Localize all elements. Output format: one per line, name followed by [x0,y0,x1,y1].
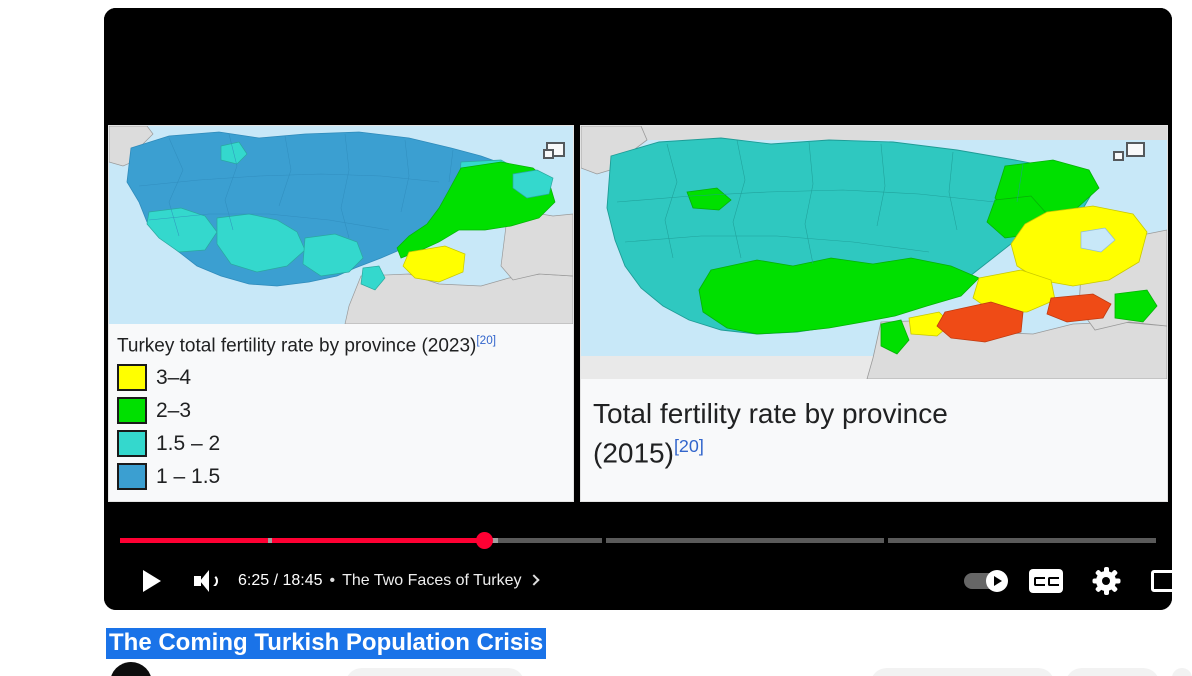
progress-played [120,538,268,543]
enlarge-icon-outer [1126,142,1145,157]
legend-swatch-3-4 [117,364,147,391]
page-root: Turkey total fertility rate by province … [0,0,1192,676]
legend-item: 1 – 1.5 [117,460,573,493]
left-caption-text: Turkey total fertility rate by province … [117,335,476,356]
miniplayer-icon [1151,570,1172,592]
autoplay-icon [964,570,1008,592]
legend-label: 1 – 1.5 [156,465,220,489]
right-figure-panel: Total fertility rate by province (2015)[… [580,125,1168,502]
volume-icon [193,570,219,592]
right-figure-caption: Total fertility rate by province (2015)[… [581,379,1167,473]
play-icon [143,570,161,592]
slide-content: Turkey total fertility rate by province … [104,119,1172,502]
legend-item: 2–3 [117,394,573,427]
progress-scrubber[interactable] [476,532,493,549]
autoplay-toggle[interactable] [960,557,1012,605]
legend-swatch-1-1-5 [117,463,147,490]
chevron-right-icon[interactable] [529,574,540,585]
legend-label: 3–4 [156,366,191,390]
chapter-title[interactable]: The Two Faces of Turkey [342,572,521,590]
progress-played [272,538,484,543]
progress-bar[interactable] [120,538,1156,543]
map-turkey-2023 [109,126,573,324]
letterbox-top [104,8,1172,119]
subtitles-button[interactable] [1022,557,1070,605]
time-and-chapter: 6:25 / 18:45 • The Two Faces of Turkey [238,557,538,605]
player-controls[interactable]: 6:25 / 18:45 • The Two Faces of Turkey [104,502,1172,610]
placeholder-pill[interactable] [870,668,1055,676]
legend-label: 2–3 [156,399,191,423]
channel-avatar[interactable] [110,662,152,676]
left-figure-panel: Turkey total fertility rate by province … [108,125,574,502]
map-2015-svg [581,126,1167,379]
enlarge-icon[interactable] [1113,140,1145,161]
volume-button[interactable] [182,557,230,605]
control-buttons: 6:25 / 18:45 • The Two Faces of Turkey [104,557,1172,605]
chapter-segment[interactable] [606,538,884,543]
right-caption-ref[interactable]: [20] [674,436,704,456]
legend-swatch-2-3 [117,397,147,424]
placeholder-pill[interactable] [1172,668,1192,676]
map-2023-svg [109,126,573,324]
play-button[interactable] [128,557,176,605]
gear-icon [1093,568,1119,594]
video-player[interactable]: Turkey total fertility rate by province … [104,8,1172,610]
time-display: 6:25 / 18:45 [238,572,323,590]
placeholder-pill[interactable] [345,668,525,676]
enlarge-icon[interactable] [543,140,565,159]
placeholder-pill[interactable] [1065,668,1160,676]
right-caption-line2-wrap: (2015)[20] [593,434,1167,473]
fertility-legend: 3–4 2–3 1.5 – 2 1 – 1.5 [109,359,573,493]
legend-swatch-1-5-2 [117,430,147,457]
map-turkey-2015 [581,126,1167,379]
enlarge-icon-inner [1113,151,1124,161]
right-caption-line1: Total fertility rate by province [593,395,1167,434]
legend-label: 1.5 – 2 [156,432,220,456]
chapter-segment[interactable] [888,538,1156,543]
video-title[interactable]: The Coming Turkish Population Crisis [106,628,546,659]
left-figure-caption: Turkey total fertility rate by province … [109,324,573,359]
legend-item: 1.5 – 2 [117,427,573,460]
separator-dot: • [330,572,336,590]
video-frame[interactable]: Turkey total fertility rate by province … [104,8,1172,502]
enlarge-icon-inner [543,149,554,159]
cc-icon [1029,569,1063,593]
right-caption-line2: (2015) [593,437,674,468]
legend-item: 3–4 [117,361,573,394]
left-caption-ref[interactable]: [20] [476,334,496,347]
settings-button[interactable] [1082,557,1130,605]
miniplayer-button[interactable] [1142,557,1172,605]
